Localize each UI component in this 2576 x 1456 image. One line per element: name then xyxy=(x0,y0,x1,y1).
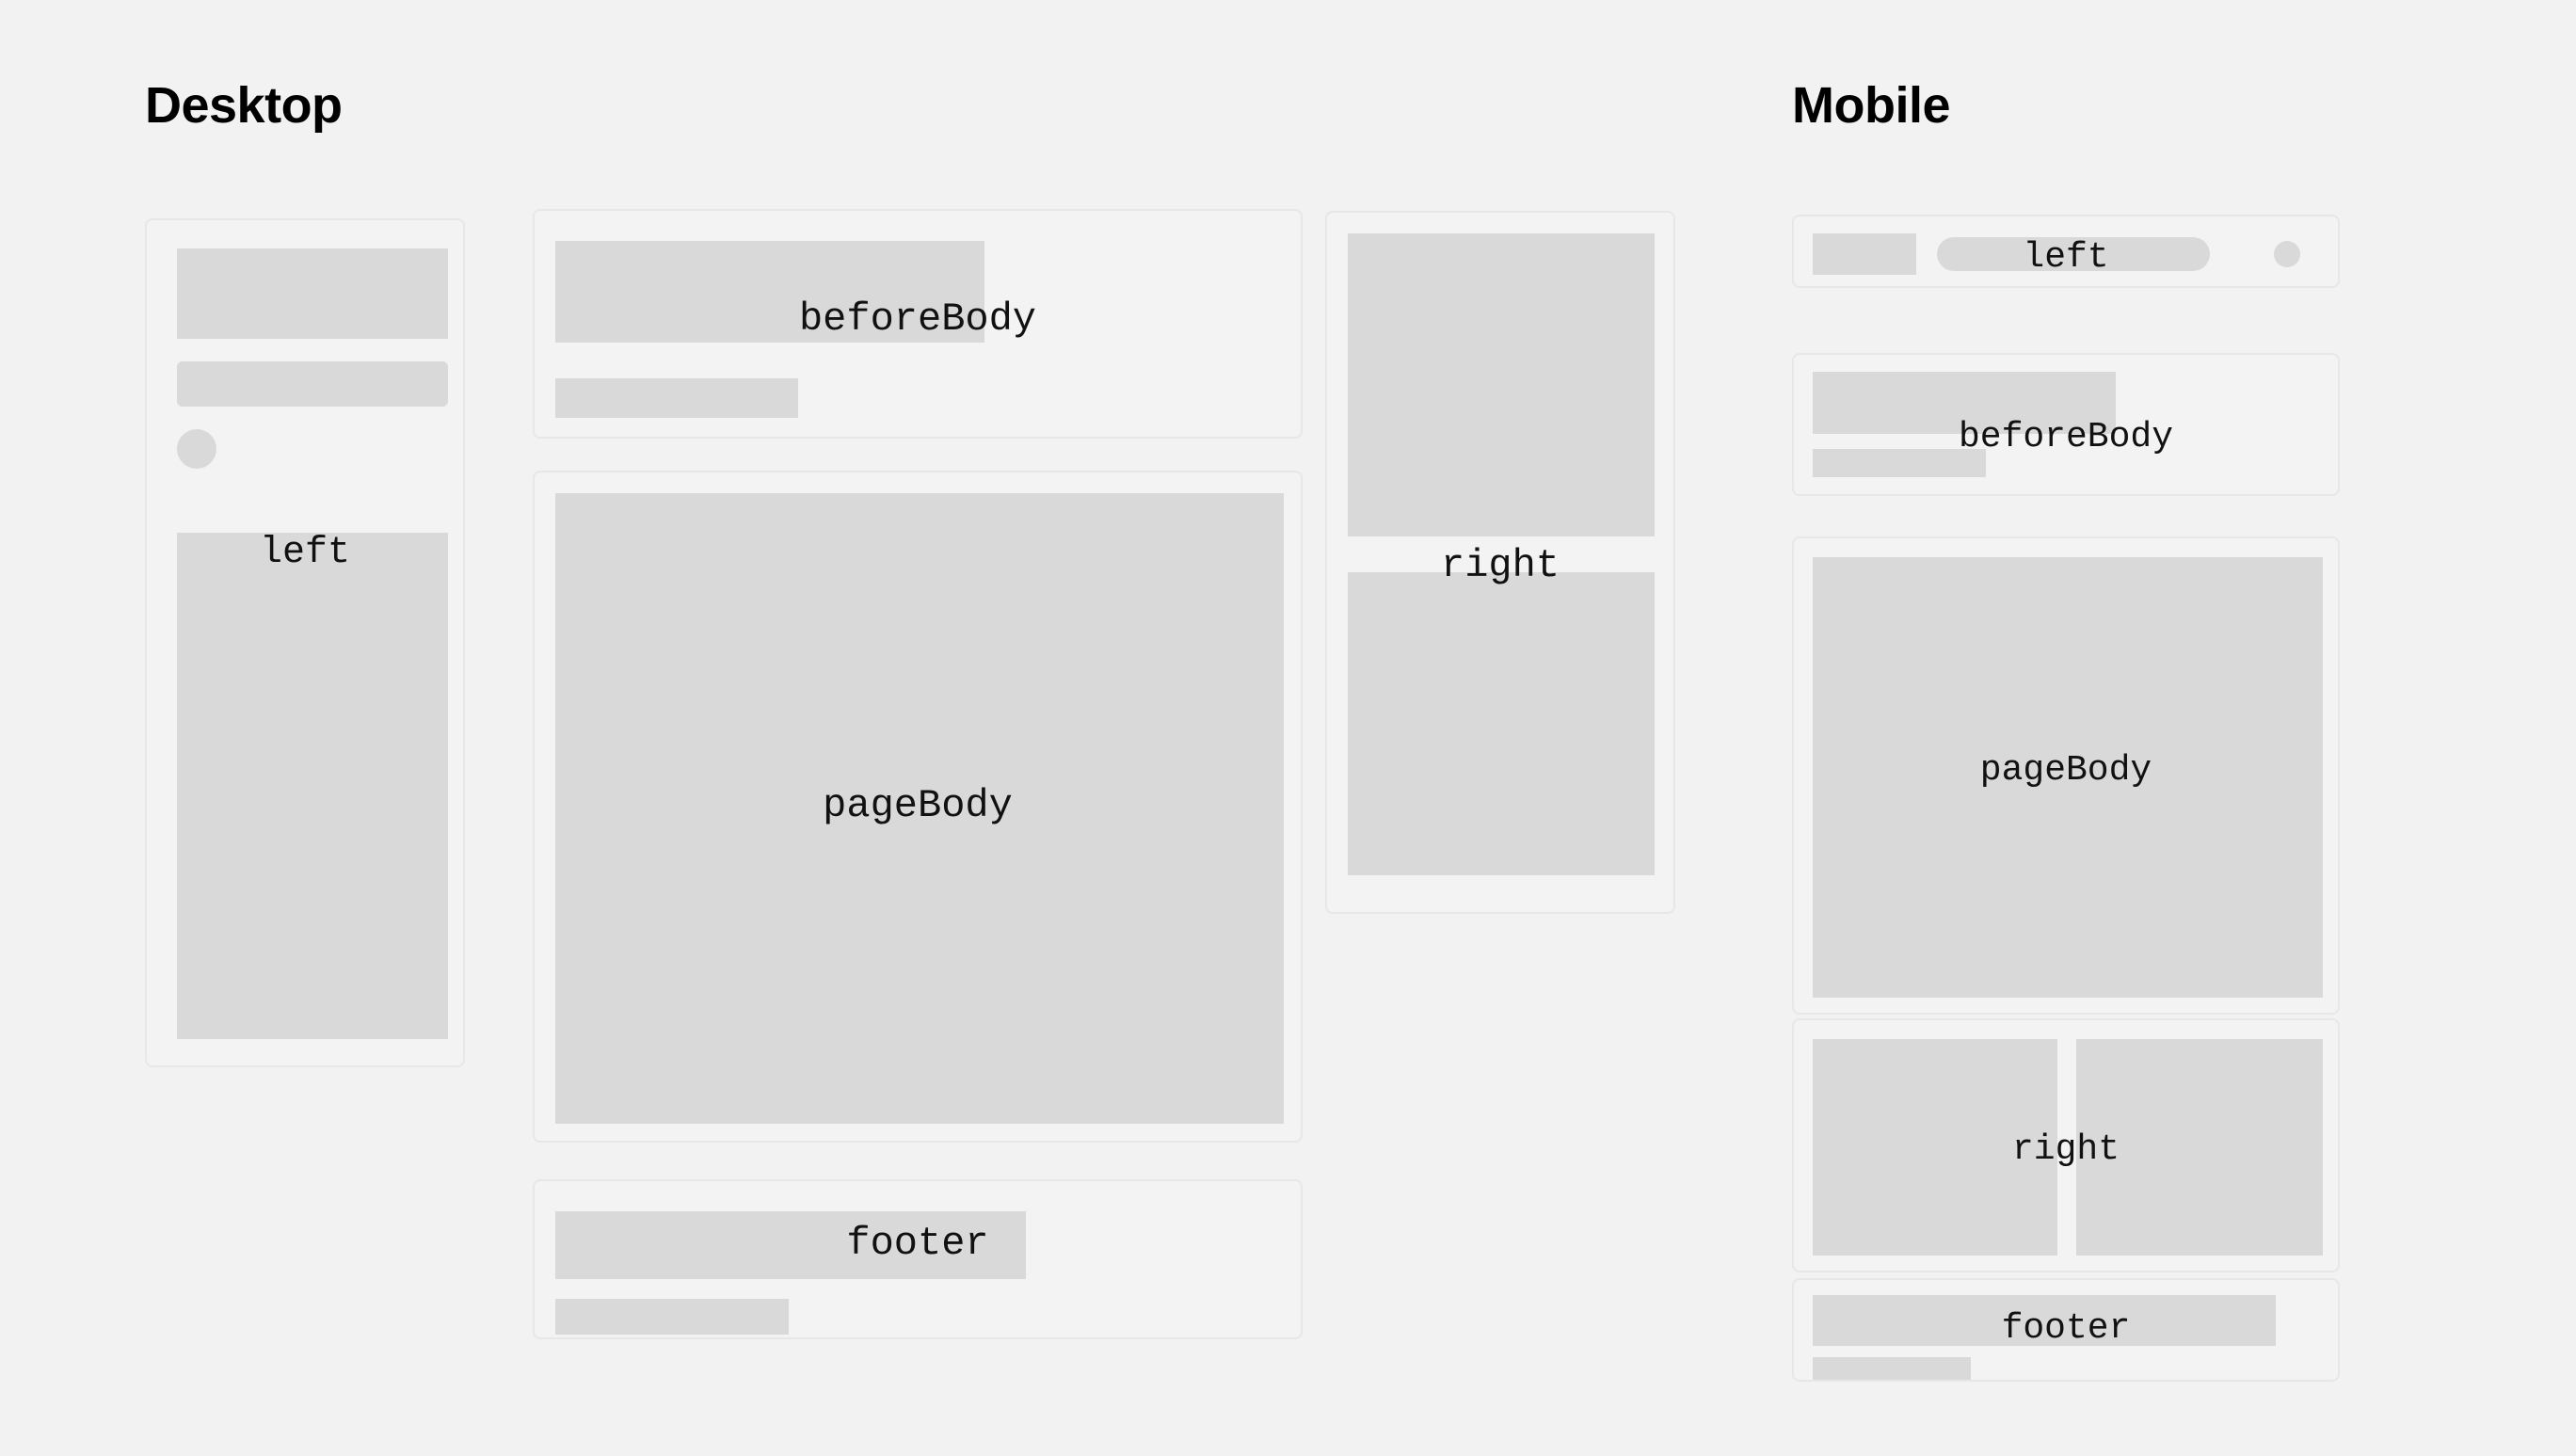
desktop-footer-region-panel[interactable] xyxy=(533,1179,1303,1339)
mobile-beforebody-region-panel[interactable] xyxy=(1792,353,2340,496)
skeleton-block xyxy=(555,241,984,343)
skeleton-block xyxy=(177,248,448,339)
skeleton-block xyxy=(1813,1357,1971,1380)
skeleton-avatar-circle xyxy=(177,429,216,469)
skeleton-block xyxy=(555,378,798,418)
desktop-left-region-panel[interactable] xyxy=(145,218,465,1067)
skeleton-block xyxy=(1813,557,2323,998)
mobile-left-region-panel[interactable] xyxy=(1792,215,2340,288)
mobile-section-title: Mobile xyxy=(1792,80,1950,131)
skeleton-block xyxy=(555,493,1284,1124)
skeleton-block xyxy=(1813,233,1916,275)
skeleton-block xyxy=(177,361,448,407)
skeleton-block xyxy=(1813,372,2116,434)
skeleton-block xyxy=(555,1211,1026,1279)
mobile-footer-region-panel[interactable] xyxy=(1792,1278,2340,1382)
mobile-pagebody-region-panel[interactable] xyxy=(1792,536,2340,1015)
skeleton-block xyxy=(1813,1039,2057,1256)
skeleton-block xyxy=(555,1299,789,1335)
skeleton-block xyxy=(177,533,448,1039)
layout-preview-canvas: Desktop left beforeBody pageBody right f… xyxy=(0,0,2576,1456)
desktop-beforebody-region-panel[interactable] xyxy=(533,209,1303,439)
skeleton-block xyxy=(1813,1295,2276,1346)
skeleton-block xyxy=(1813,449,1986,477)
desktop-pagebody-region-panel[interactable] xyxy=(533,471,1303,1143)
skeleton-pill xyxy=(1937,237,2210,271)
skeleton-block xyxy=(1348,233,1655,536)
skeleton-block xyxy=(2076,1039,2323,1256)
skeleton-avatar-circle xyxy=(2274,241,2300,267)
skeleton-block xyxy=(1348,572,1655,875)
desktop-right-region-panel[interactable] xyxy=(1325,211,1675,914)
mobile-right-region-panel[interactable] xyxy=(1792,1018,2340,1272)
desktop-section-title: Desktop xyxy=(145,80,343,131)
